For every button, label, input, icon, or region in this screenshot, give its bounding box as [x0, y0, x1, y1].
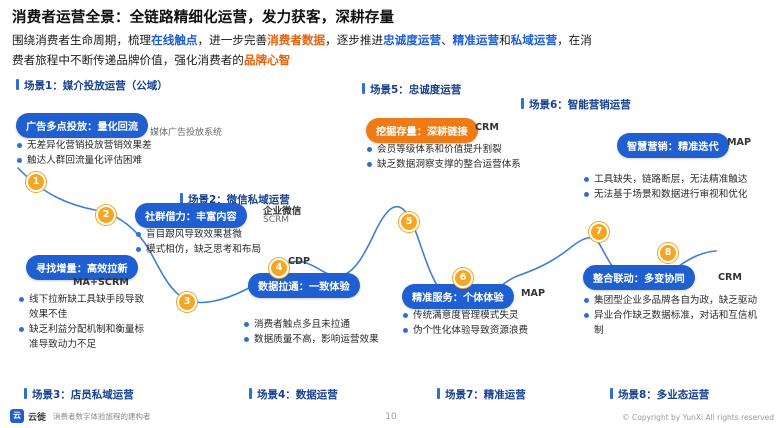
card-6-pill-right: 个体体验 [463, 293, 504, 304]
marker-7[interactable]: 7 [589, 222, 609, 242]
scene-label-4-text: 场景4：数据运营 [257, 389, 338, 401]
scene-label-3: 场景3：店员私域运营 [24, 387, 134, 402]
scene-label-6-text: 场景6：智能营销运营 [529, 99, 631, 111]
scene-bar-icon [24, 388, 27, 399]
scene-label-1: 场景1：媒介投放运营（公域） [16, 78, 168, 93]
card-6-bullet-1: 传统满意度管理模式失灵 [402, 308, 528, 323]
card-8-system: CRM [718, 272, 742, 283]
card-2-system-sub: SCRM [263, 215, 289, 225]
card-4-pill[interactable]: 数据拉通：一致体验 [248, 273, 360, 298]
card-7-pill[interactable]: 智慧营销：精准迭代 [617, 133, 729, 158]
scene-bar-icon [521, 98, 524, 109]
scene-bar-icon [362, 83, 365, 94]
scene-label-7-text: 场景7：精准运营 [445, 389, 526, 401]
card-1-pill[interactable]: 广告多点投放：量化回流 [16, 113, 148, 138]
marker-8[interactable]: 8 [658, 243, 678, 263]
card-8-bullet-1: 集团型企业多品牌各自为政，缺乏驱动 [583, 293, 758, 308]
card-3-bullet-1: 线下拉新缺工具缺手段导致效果不佳 [18, 292, 148, 322]
card-6-pill[interactable]: 精准服务：个体体验 [402, 284, 514, 309]
slide-root: 消费者运营全景：全链路精细化运营，发力获客，深耕存量 围绕消费者生命周期，梳理在… [0, 0, 782, 428]
card-3-pill-right: 高效拉新 [87, 264, 128, 275]
scene-label-8: 场景8：多业态运营 [610, 387, 709, 402]
scene-label-3-text: 场景3：店员私域运营 [32, 389, 134, 401]
card-5-bullet-1: 会员等级体系和价值提升割裂 [366, 142, 521, 157]
card-8-pill-left: 整合联动： [593, 274, 644, 285]
card-4-pill-right: 一致体验 [309, 282, 350, 293]
marker-4[interactable]: 4 [269, 258, 289, 278]
card-3-bullet-2: 缺乏利益分配机制和衡量标准导致动力不足 [18, 322, 148, 352]
card-3-system: MA+SCRM [73, 277, 129, 288]
card-7-pill-left: 智慧营销： [627, 142, 678, 153]
card-4-bullet-1: 消费者触点多且未拉通 [243, 317, 379, 332]
card-7-bullet-2: 无法基于场景和数据进行审视和优化 [583, 187, 748, 202]
card-2-pill-left: 社群借力： [145, 212, 196, 223]
journey-curve [0, 0, 782, 428]
card-1-bullets: 无差异化营销投放营销效果差 触达人群回流量化评估困难 [16, 138, 152, 168]
card-6-bullets: 传统满意度管理模式失灵 伪个性化体验导致资源浪费 [402, 308, 528, 338]
card-3-bullets: 线下拉新缺工具缺手段导致效果不佳 缺乏利益分配机制和衡量标准导致动力不足 [18, 292, 148, 352]
scene-label-6: 场景6：智能营销运营 [521, 97, 631, 112]
card-8-bullets: 集团型企业多品牌各自为政，缺乏驱动 异业合作缺乏数据标准，对话和互信机制 [583, 293, 758, 338]
card-5-bullets: 会员等级体系和价值提升割裂 缺乏数据洞察支撑的整合运营体系 [366, 142, 521, 172]
card-2-pill-right: 丰富内容 [196, 212, 237, 223]
scene-label-7: 场景7：精准运营 [437, 387, 526, 402]
marker-2[interactable]: 2 [96, 205, 116, 225]
marker-6[interactable]: 6 [453, 268, 473, 288]
card-5-pill-left: 挖掘存量： [376, 127, 427, 138]
card-8-pill-right: 多变协同 [644, 274, 685, 285]
card-6-system: MAP [521, 288, 545, 299]
scene-label-4: 场景4：数据运营 [249, 387, 338, 402]
card-7-system: MAP [727, 137, 751, 148]
card-4-bullets: 消费者触点多且未拉通 数据质量不高，影响运营效果 [243, 317, 379, 347]
card-6-pill-left: 精准服务： [412, 293, 463, 304]
card-2-bullet-1: 盲目跟风导致效果甚微 [135, 227, 261, 242]
card-2-bullet-2: 模式相仿，缺乏思考和布局 [135, 242, 261, 257]
scene-bar-icon [16, 79, 19, 90]
card-4-bullet-2: 数据质量不高，影响运营效果 [243, 332, 379, 347]
card-1-system: 媒体广告投放系统 [150, 125, 222, 138]
scene-bar-icon [249, 388, 252, 399]
card-1-bullet-2: 触达人群回流量化评估困难 [16, 153, 152, 168]
card-1-pill-left: 广告多点投放： [26, 122, 97, 133]
copyright-text: © Copyright by YunXi All rights reserved [622, 413, 774, 422]
card-4-pill-left: 数据拉通： [258, 282, 309, 293]
card-7-bullet-1: 工具缺失，链路断层，无法精准触达 [583, 172, 748, 187]
scene-label-5-text: 场景5：忠诚度运营 [370, 84, 461, 96]
marker-1[interactable]: 1 [26, 172, 46, 192]
card-6-bullet-2: 伪个性化体验导致资源浪费 [402, 323, 528, 338]
card-2-bullets: 盲目跟风导致效果甚微 模式相仿，缺乏思考和布局 [135, 227, 261, 257]
card-3-pill-left: 寻找增量： [36, 264, 87, 275]
scene-label-5: 场景5：忠诚度运营 [362, 82, 461, 97]
card-7-bullets: 工具缺失，链路断层，无法精准触达 无法基于场景和数据进行审视和优化 [583, 172, 748, 202]
card-8-pill[interactable]: 整合联动：多变协同 [583, 265, 695, 290]
scene-bar-icon [610, 388, 613, 399]
scene-label-1-text: 场景1：媒介投放运营（公域） [24, 80, 168, 92]
scene-label-8-text: 场景8：多业态运营 [618, 389, 709, 401]
card-8-bullet-2: 异业合作缺乏数据标准，对话和互信机制 [583, 308, 758, 338]
scene-bar-icon [437, 388, 440, 399]
card-7-pill-right: 精准迭代 [678, 142, 719, 153]
card-5-system: CRM [475, 122, 499, 133]
card-1-bullet-1: 无差异化营销投放营销效果差 [16, 138, 152, 153]
card-5-pill-right: 深耕链接 [427, 127, 468, 138]
marker-3[interactable]: 3 [177, 292, 197, 312]
card-1-pill-right: 量化回流 [97, 122, 138, 133]
card-2-pill[interactable]: 社群借力：丰富内容 [135, 203, 247, 228]
card-5-bullet-2: 缺乏数据洞察支撑的整合运营体系 [366, 157, 521, 172]
card-4-system: CDP [288, 256, 310, 267]
card-5-pill[interactable]: 挖掘存量：深耕链接 [366, 118, 478, 143]
marker-5[interactable]: 5 [399, 212, 419, 232]
